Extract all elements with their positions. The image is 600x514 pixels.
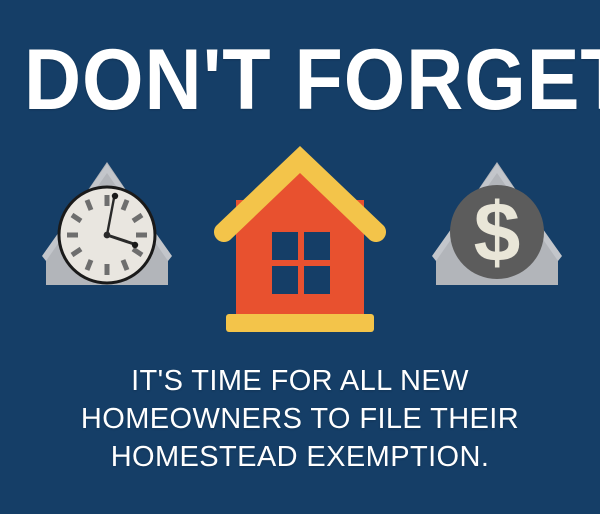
page-title: DON'T FORGET! xyxy=(24,34,576,126)
house-body xyxy=(236,200,364,315)
icon-row: $ xyxy=(0,140,600,340)
house-with-dollar-icon: $ xyxy=(412,140,582,340)
house-main-icon xyxy=(196,140,404,340)
poster-canvas: DON'T FORGET! xyxy=(0,0,600,514)
clock-face xyxy=(59,187,155,283)
subtitle-line-3: HOMESTEAD EXEMPTION. xyxy=(30,438,570,476)
subtitle-line-2: HOMEOWNERS TO FILE THEIR xyxy=(30,400,570,438)
house-base xyxy=(226,314,374,332)
svg-text:$: $ xyxy=(474,185,521,279)
dollar-coin: $ xyxy=(450,185,544,279)
subtitle-text: IT'S TIME FOR ALL NEW HOMEOWNERS TO FILE… xyxy=(30,362,570,476)
subtitle-line-1: IT'S TIME FOR ALL NEW xyxy=(30,362,570,400)
house-with-clock-icon xyxy=(22,140,192,340)
